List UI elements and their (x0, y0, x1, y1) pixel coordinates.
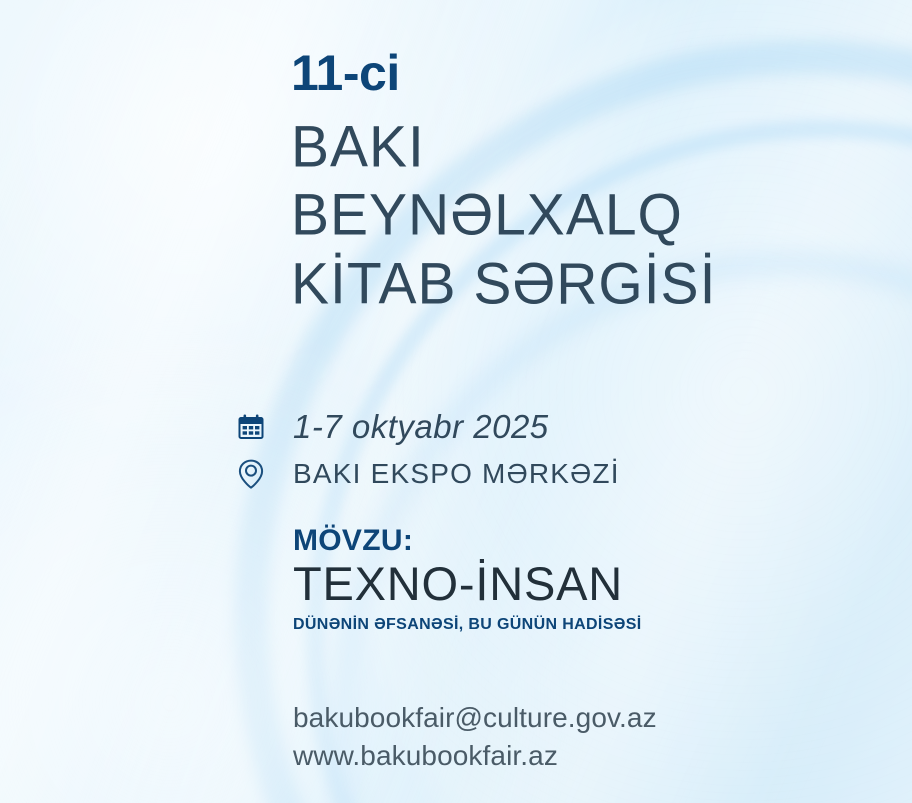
location-pin-icon (238, 459, 272, 489)
event-venue-row: BAKI EKSPO MƏRKƏZİ (238, 450, 620, 497)
theme-value: TEXNO-İNSAN (293, 559, 642, 610)
theme-tagline: DÜNƏNİN ƏFSANƏSİ, BU GÜNÜN HADİSƏSİ (293, 616, 642, 634)
event-title: BAKI BEYNƏLXALQ KİTAB SƏRGİSİ (291, 112, 716, 317)
contact-block: bakubookfair@culture.gov.az www.bakubook… (293, 699, 657, 774)
calendar-icon (238, 414, 272, 440)
event-title-line-2: BEYNƏLXALQ (291, 180, 716, 250)
event-date: 1-7 oktyabr 2025 (293, 410, 549, 443)
event-title-line-1: BAKI (291, 112, 716, 182)
event-details: 1-7 oktyabr 2025 BAKI EKSPO MƏRKƏZİ (238, 403, 620, 497)
event-venue: BAKI EKSPO MƏRKƏZİ (293, 460, 620, 488)
contact-email[interactable]: bakubookfair@culture.gov.az (293, 699, 657, 737)
poster-canvas: 11-ci BAKI BEYNƏLXALQ KİTAB SƏRGİSİ (0, 0, 912, 803)
theme-block: MÖVZU: TEXNO-İNSAN DÜNƏNİN ƏFSANƏSİ, BU … (293, 524, 642, 633)
edition-number: 11-ci (291, 48, 400, 98)
event-title-line-3: KİTAB SƏRGİSİ (291, 249, 716, 319)
poster-content: 11-ci BAKI BEYNƏLXALQ KİTAB SƏRGİSİ (0, 0, 912, 803)
contact-website[interactable]: www.bakubookfair.az (293, 737, 657, 775)
event-date-row: 1-7 oktyabr 2025 (238, 403, 620, 450)
theme-label: MÖVZU: (293, 524, 642, 557)
